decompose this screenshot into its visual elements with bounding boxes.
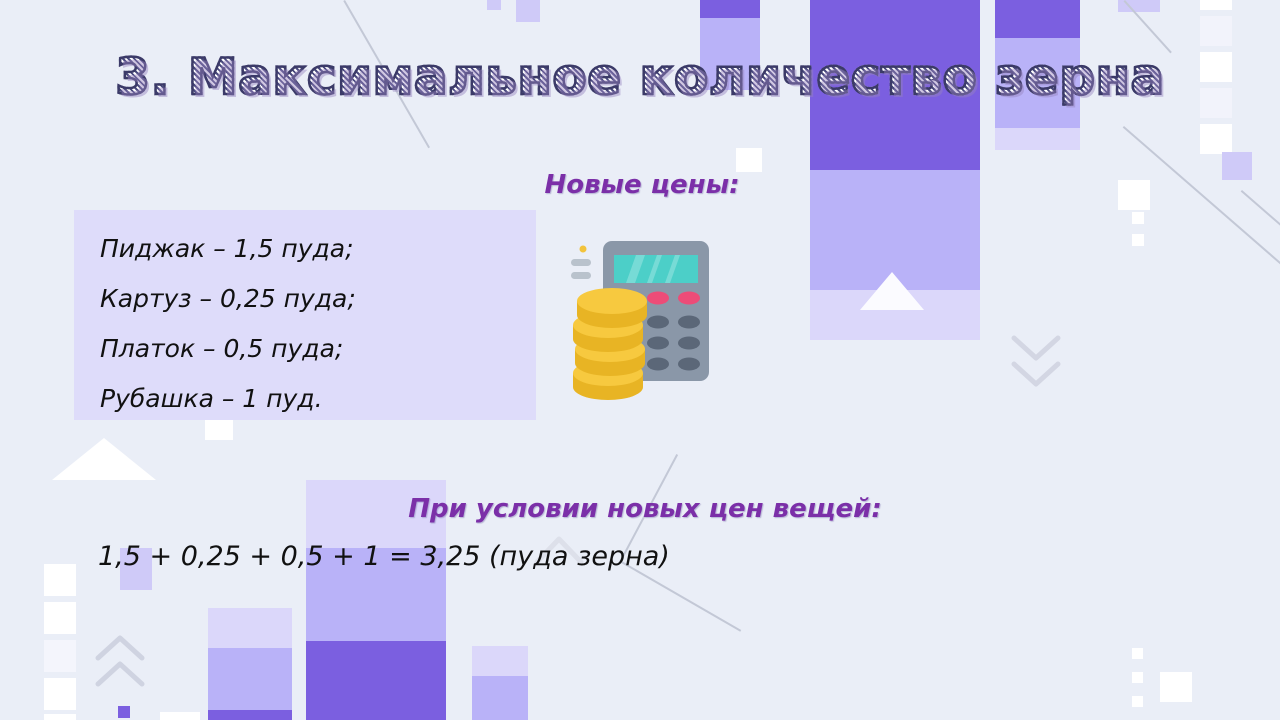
- page-title-container: 3. Максимальное количество зерна: [0, 48, 1280, 106]
- deco-bar-bottom-2a: [208, 608, 292, 648]
- deco-bar-top-3: [995, 0, 1080, 38]
- slide-canvas: 3. Максимальное количество зерна Новые ц…: [0, 0, 1280, 720]
- deco-diagonal-line-1: [343, 0, 430, 148]
- deco-bar-top-3c: [995, 128, 1080, 150]
- conclusion-equation: 1,5 + 0,25 + 0,5 + 1 = 3,25 (пуда зерна): [98, 541, 670, 572]
- deco-chevron-up-left: [92, 630, 148, 692]
- price-list-item: Пиджак – 1,5 пуда;: [100, 224, 536, 274]
- deco-bar-top-1b: [700, 18, 760, 90]
- deco-square-bl-1: [44, 564, 76, 596]
- calculator-key: [678, 358, 700, 371]
- conclusion-heading: При условии новых цен вещей:: [200, 494, 1090, 524]
- calculator-key: [678, 337, 700, 350]
- deco-square-col-3: [1200, 52, 1232, 82]
- price-list-box: Пиджак – 1,5 пуда; Картуз – 0,25 пуда; П…: [74, 210, 536, 420]
- price-list-item: Картуз – 0,25 пуда;: [100, 274, 536, 324]
- deco-triangle-left: [52, 438, 156, 480]
- coin-sparkle-dot: [580, 246, 587, 253]
- deco-dot-bottom-right-2: [1132, 672, 1143, 683]
- deco-bar-top-3b: [995, 38, 1080, 128]
- deco-square-bottom-right: [1160, 672, 1192, 702]
- calculator-key-accent: [678, 292, 700, 305]
- deco-dot-right-3: [1132, 234, 1144, 246]
- coin-stack: [573, 288, 647, 400]
- deco-square-bl-3: [44, 640, 76, 672]
- deco-square-right-lav: [1222, 152, 1252, 180]
- deco-dot-bottom-left: [118, 706, 130, 718]
- calculator-key: [647, 316, 669, 329]
- deco-square-col-5: [1200, 124, 1232, 154]
- deco-chevron-down-right: [1008, 330, 1064, 392]
- deco-bar-top-2: [810, 0, 980, 170]
- deco-square-bl-5: [44, 714, 76, 720]
- deco-bar-bottom-3c: [306, 641, 446, 720]
- dash-line-1: [571, 259, 591, 266]
- deco-bar-bottom-2b: [208, 648, 292, 710]
- prices-heading: Новые цены:: [432, 170, 852, 200]
- deco-diagonal-line-3: [1123, 126, 1280, 318]
- deco-square-white-top: [736, 148, 762, 172]
- calculator-key: [678, 316, 700, 329]
- deco-square-bl-4: [44, 678, 76, 710]
- deco-bar-top-1: [700, 0, 760, 18]
- deco-dot-bottom-right-1: [1132, 648, 1143, 659]
- deco-square-col-1: [1200, 0, 1232, 10]
- deco-square-bl-2: [44, 602, 76, 634]
- deco-square-col-4: [1200, 88, 1232, 118]
- deco-triangle-top: [860, 272, 924, 310]
- deco-dot-bottom-right-3: [1132, 696, 1143, 707]
- price-list-item: Рубашка – 1 пуд.: [100, 374, 536, 424]
- deco-dot-right-2: [1132, 212, 1144, 224]
- calculator-with-coins-icon: [565, 235, 720, 410]
- calculator-key-accent: [647, 292, 669, 305]
- calculator-key: [647, 358, 669, 371]
- deco-square-col-2: [1200, 16, 1232, 46]
- deco-square-small-top-1: [487, 0, 501, 10]
- deco-square-bottom-center: [160, 712, 200, 720]
- dash-line-2: [571, 272, 591, 279]
- deco-bar-bottom-4a: [472, 646, 528, 676]
- deco-bar-bottom-4b: [472, 676, 528, 720]
- deco-bar-bottom-2c: [208, 710, 292, 720]
- deco-square-small-top-2: [516, 0, 540, 22]
- deco-diagonal-line-4: [1241, 190, 1280, 264]
- calculator-key: [647, 337, 669, 350]
- deco-dot-right-1: [1132, 190, 1144, 202]
- price-list-item: Платок – 0,5 пуда;: [100, 324, 536, 374]
